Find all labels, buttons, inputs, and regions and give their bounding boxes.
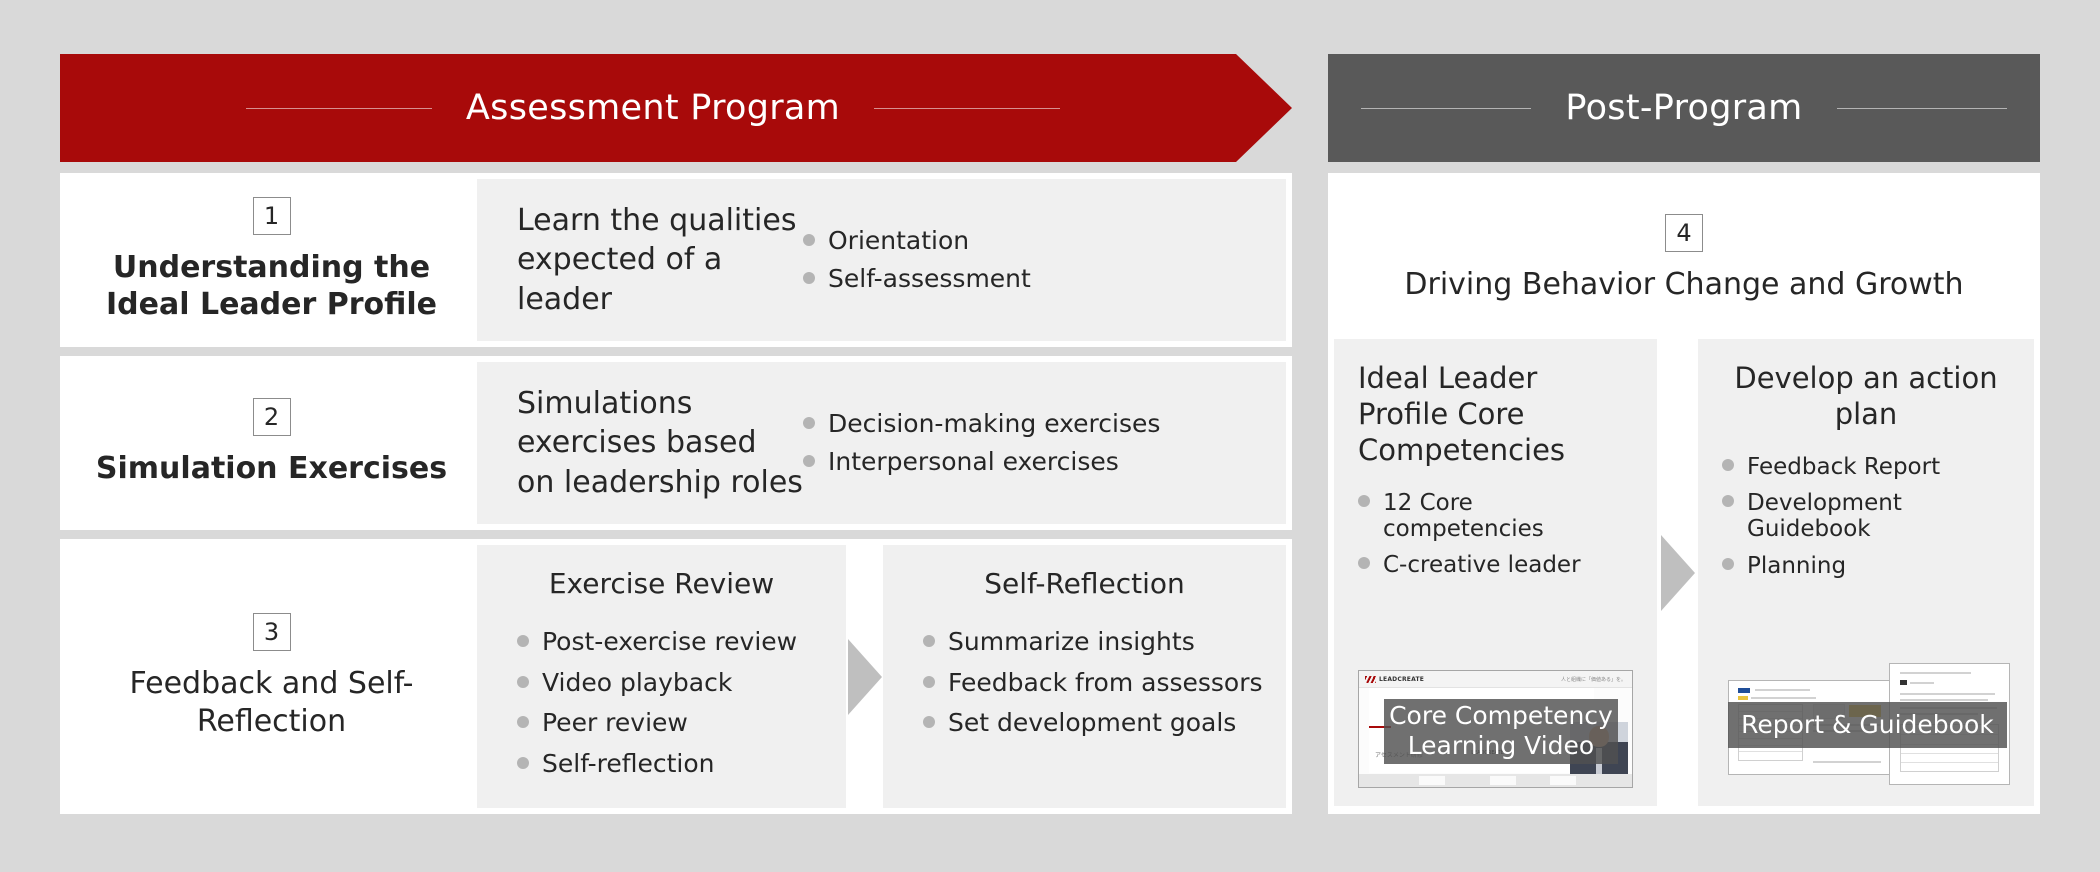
step-1-title: Understanding the Ideal Leader Profile	[80, 249, 463, 324]
bullet-dot-icon	[1722, 558, 1734, 570]
list-item: Summarize insights	[923, 622, 1266, 663]
step-2-panel: Simulations exercises based on leadershi…	[477, 362, 1286, 524]
bullet-text: Feedback from assessors	[948, 669, 1263, 698]
list-item: Self-assessment	[803, 260, 1031, 299]
list-item: Post-exercise review	[517, 622, 826, 663]
bullet-dot-icon	[923, 635, 935, 647]
bullet-text: Self-reflection	[542, 750, 715, 779]
post-program-banner: Post-Program	[1328, 54, 2040, 162]
ideal-leader-profile-heading: Ideal Leader Profile Core Competencies	[1358, 361, 1633, 469]
bullet-dot-icon	[517, 676, 529, 688]
step-3-label: 3 Feedback and Self-Reflection	[66, 545, 477, 808]
doc-highlight	[1738, 696, 1748, 700]
bullet-dot-icon	[1722, 459, 1734, 471]
arrow-right-icon	[1661, 535, 1695, 611]
post-program-title: Post-Program	[1565, 88, 1802, 128]
step-4-title: Driving Behavior Change and Growth	[1404, 266, 1963, 304]
step-1-panel: Learn the qualities expected of a leader…	[477, 179, 1286, 341]
bullet-dot-icon	[923, 676, 935, 688]
video-thumbnail-wrap[interactable]: LEADCREATE 人と組織に「価値ある」を。 アセスメント研修 LEADCR…	[1358, 670, 1633, 788]
step-3-number: 3	[253, 613, 291, 651]
logo-bars-icon	[1365, 676, 1376, 683]
list-item: Feedback Report	[1722, 449, 2010, 485]
action-plan-bullets: Feedback Report Development Guidebook Pl…	[1722, 449, 2010, 584]
step-row-2: 2 Simulation Exercises Simulations exerc…	[60, 356, 1292, 530]
doc-line	[1900, 693, 1995, 695]
bullet-dot-icon	[517, 757, 529, 769]
banner-rule-left	[246, 108, 432, 109]
ideal-leader-profile-panel: Ideal Leader Profile Core Competencies 1…	[1334, 339, 1657, 806]
leadcreate-logo-icon: LEADCREATE	[1365, 676, 1424, 683]
post-program-arrow-gap	[1657, 339, 1698, 806]
self-reflection-bullets: Summarize insights Feedback from assesso…	[903, 622, 1266, 744]
bullet-text: Self-assessment	[828, 265, 1031, 294]
step-1-number: 1	[253, 197, 291, 235]
bullet-dot-icon	[1358, 557, 1370, 569]
doc-header-mark	[1738, 688, 1749, 693]
banner-rule-right	[874, 108, 1060, 109]
assessment-program-title: Assessment Program	[466, 88, 840, 128]
step-2-bullets: Decision-making exercises Interpersonal …	[803, 405, 1160, 482]
bullet-text: 12 Core competencies	[1383, 490, 1633, 542]
self-reflection-panel: Self-Reflection Summarize insights Feedb…	[883, 545, 1286, 808]
list-item: Feedback from assessors	[923, 663, 1266, 704]
bullet-dot-icon	[803, 417, 815, 429]
doc-header-mark	[1900, 680, 1907, 685]
assessment-program-banner: Assessment Program	[60, 54, 1292, 162]
step-row-1: 1 Understanding the Ideal Leader Profile…	[60, 173, 1292, 347]
step-2-number: 2	[253, 398, 291, 436]
filmstrip-cell	[1550, 776, 1576, 785]
doc-line	[1813, 761, 1881, 763]
exercise-review-bullets: Post-exercise review Video playback Peer…	[497, 622, 826, 784]
bullet-dot-icon	[923, 716, 935, 728]
bullet-dot-icon	[803, 272, 815, 284]
step-row-3: 3 Feedback and Self-Reflection Exercise …	[60, 539, 1292, 814]
bullet-text: C-creative leader	[1383, 552, 1581, 578]
step-3-panels: Exercise Review Post-exercise review Vid…	[477, 545, 1286, 808]
bullet-text: Set development goals	[948, 709, 1236, 738]
step-1-bullets: Orientation Self-assessment	[803, 222, 1031, 299]
assessment-program-section: Assessment Program 1 Understanding the I…	[60, 54, 1292, 814]
post-program-section: Post-Program 4 Driving Behavior Change a…	[1328, 54, 2040, 814]
step-1-label: 1 Understanding the Ideal Leader Profile	[66, 179, 477, 341]
list-item: Video playback	[517, 663, 826, 704]
bullet-dot-icon	[1722, 495, 1734, 507]
doc-line	[1900, 672, 1971, 674]
process-diagram: Assessment Program 1 Understanding the I…	[0, 0, 2100, 872]
filmstrip-cell	[1419, 776, 1445, 785]
step-3-arrow-gap	[846, 545, 883, 808]
exercise-review-panel: Exercise Review Post-exercise review Vid…	[477, 545, 846, 808]
bullet-text: Summarize insights	[948, 628, 1195, 657]
banner-rule-left	[1361, 108, 1531, 109]
step-2-lead: Simulations exercises based on leadershi…	[503, 384, 803, 503]
logo-tagline: 人と組織に「価値ある」を。	[1561, 676, 1626, 683]
list-item: 12 Core competencies	[1358, 485, 1633, 547]
post-program-card: 4 Driving Behavior Change and Growth Ide…	[1328, 173, 2040, 814]
video-filmstrip	[1359, 774, 1632, 787]
exercise-review-heading: Exercise Review	[497, 567, 826, 600]
action-plan-panel: Develop an action plan Feedback Report D…	[1698, 339, 2034, 806]
self-reflection-heading: Self-Reflection	[903, 567, 1266, 600]
banner-rule-right	[1837, 108, 2007, 109]
bullet-dot-icon	[803, 234, 815, 246]
bullet-text: Feedback Report	[1747, 454, 1940, 480]
bullet-text: Orientation	[828, 227, 969, 256]
report-guidebook-thumbnail[interactable]: Report & Guidebook	[1722, 660, 2010, 788]
bullet-text: Video playback	[542, 669, 732, 698]
bullet-text: Development Guidebook	[1747, 490, 2010, 542]
arrow-right-icon	[848, 639, 882, 715]
doc-line	[1751, 697, 1816, 699]
assessment-rows: 1 Understanding the Ideal Leader Profile…	[60, 173, 1292, 814]
step-2-label: 2 Simulation Exercises	[66, 362, 477, 524]
list-item: Set development goals	[923, 703, 1266, 744]
bullet-text: Peer review	[542, 709, 688, 738]
step-2-title: Simulation Exercises	[96, 450, 447, 488]
ideal-leader-profile-bullets: 12 Core competencies C-creative leader	[1358, 485, 1633, 584]
docs-thumbnail-wrap[interactable]: Report & Guidebook	[1722, 660, 2010, 788]
list-item: Planning	[1722, 548, 2010, 584]
docs-caption-overlay: Report & Guidebook	[1728, 702, 2007, 748]
bullet-text: Interpersonal exercises	[828, 448, 1119, 477]
list-item: Development Guidebook	[1722, 485, 2010, 547]
doc-line	[1900, 699, 1988, 701]
list-item: Decision-making exercises	[803, 405, 1160, 444]
bullet-dot-icon	[803, 455, 815, 467]
step-4-number: 4	[1665, 214, 1703, 252]
list-item: C-creative leader	[1358, 547, 1633, 583]
logo-text: LEADCREATE	[1379, 676, 1424, 683]
bullet-dot-icon	[517, 716, 529, 728]
list-item: Peer review	[517, 703, 826, 744]
list-item: Orientation	[803, 222, 1031, 261]
bullet-dot-icon	[517, 635, 529, 647]
bullet-dot-icon	[1358, 495, 1370, 507]
core-competency-video-thumbnail[interactable]: LEADCREATE 人と組織に「価値ある」を。 アセスメント研修 LEADCR…	[1358, 670, 1633, 788]
step-1-lead: Learn the qualities expected of a leader	[503, 201, 803, 320]
list-item: Interpersonal exercises	[803, 443, 1160, 482]
bullet-text: Post-exercise review	[542, 628, 797, 657]
list-item: Self-reflection	[517, 744, 826, 785]
doc-line	[1755, 689, 1810, 691]
filmstrip-cell	[1490, 776, 1516, 785]
bullet-text: Decision-making exercises	[828, 410, 1160, 439]
assessment-banner-row: Assessment Program	[60, 54, 1292, 162]
section-gap	[1292, 54, 1328, 814]
video-slide-topbar: LEADCREATE 人と組織に「価値ある」を。	[1359, 671, 1632, 688]
step-4-label: 4 Driving Behavior Change and Growth	[1334, 179, 2034, 339]
doc-line	[1910, 682, 1934, 684]
action-plan-heading: Develop an action plan	[1722, 361, 2010, 433]
post-program-panels: Ideal Leader Profile Core Competencies 1…	[1334, 339, 2034, 808]
video-caption-overlay: Core Competency Learning Video	[1384, 699, 1619, 764]
step-3-title: Feedback and Self-Reflection	[80, 665, 463, 740]
post-program-banner-row: Post-Program	[1328, 54, 2040, 162]
bullet-text: Planning	[1747, 553, 1846, 579]
